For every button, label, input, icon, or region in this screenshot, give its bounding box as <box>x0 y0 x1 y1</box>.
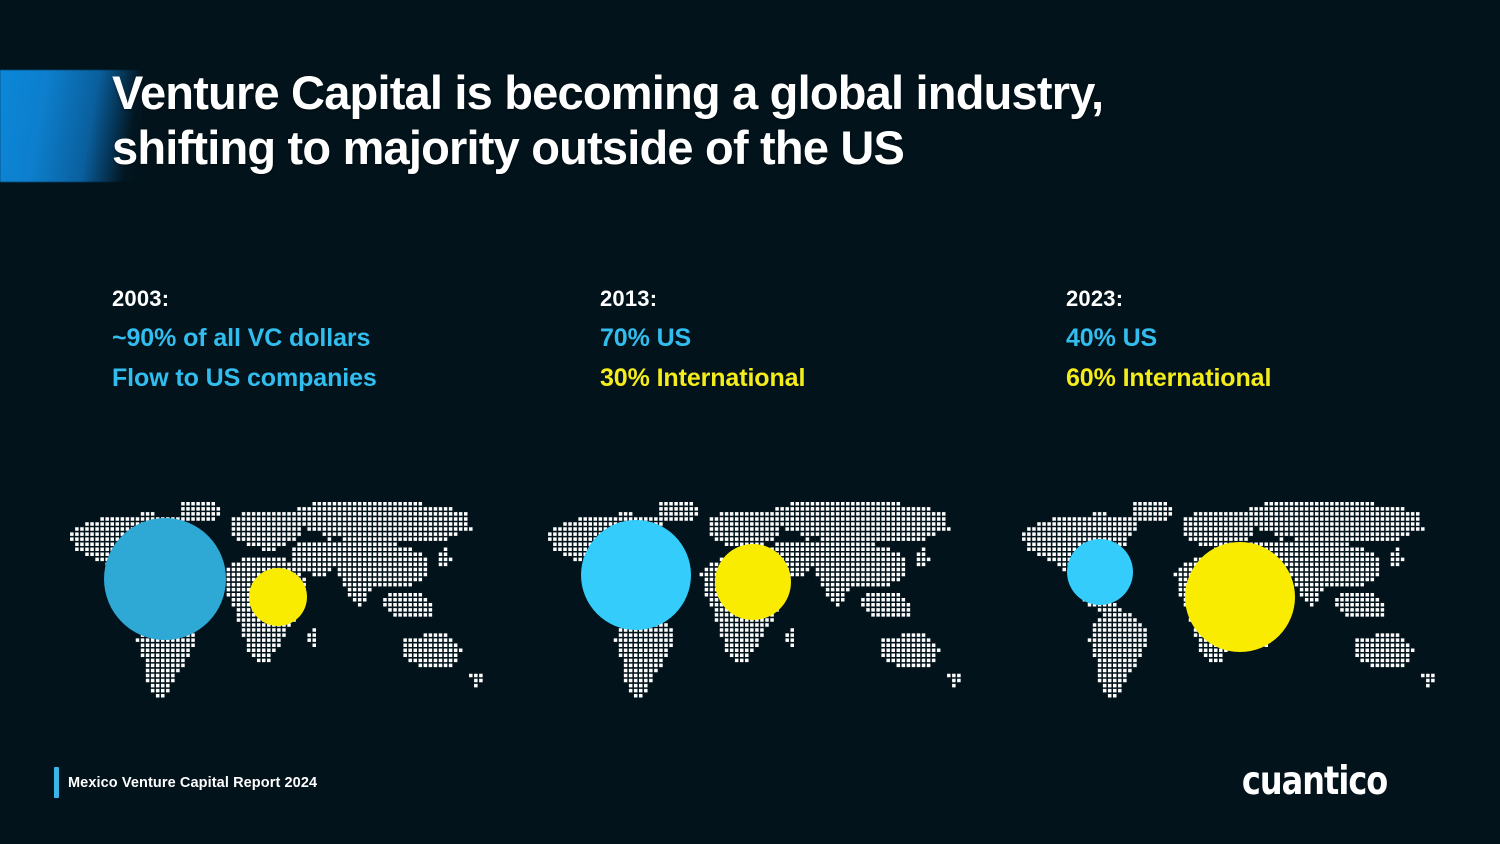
stat-column-2023: 2023: 40% US 60% International <box>1066 288 1271 406</box>
bubble-international <box>1185 542 1295 652</box>
footer-report-label: Mexico Venture Capital Report 2024 <box>68 775 317 791</box>
bubble-map-panel-2013 <box>538 497 968 712</box>
bubble-international <box>715 544 791 620</box>
footer-accent-bar <box>54 767 59 798</box>
cuantico-logo: cuantico <box>1242 759 1387 804</box>
stat-line: 40% US <box>1066 326 1271 351</box>
stat-line: ~90% of all VC dollars <box>112 326 377 351</box>
page-title: Venture Capital is becoming a global ind… <box>112 66 1312 175</box>
stat-line: 70% US <box>600 326 805 351</box>
stat-line: 60% International <box>1066 366 1271 391</box>
stat-line: Flow to US companies <box>112 366 377 391</box>
bubble-map-panel-2023 <box>1012 497 1442 712</box>
bubble-us <box>104 518 226 640</box>
stat-line: 30% International <box>600 366 805 391</box>
bubble-us <box>581 520 691 630</box>
stat-column-2013: 2013: 70% US 30% International <box>600 288 805 406</box>
stat-year-label: 2023: <box>1066 288 1271 310</box>
bubble-map-panel-2003 <box>60 497 490 712</box>
stat-year-label: 2013: <box>600 288 805 310</box>
bubble-us <box>1067 539 1133 605</box>
stats-row: 2003: ~90% of all VC dollars Flow to US … <box>0 288 1500 418</box>
slide-root: Venture Capital is becoming a global ind… <box>0 0 1500 844</box>
stat-column-2003: 2003: ~90% of all VC dollars Flow to US … <box>112 288 377 406</box>
stat-year-label: 2003: <box>112 288 377 310</box>
bubble-map-row <box>0 497 1500 722</box>
bubble-international <box>249 568 307 626</box>
